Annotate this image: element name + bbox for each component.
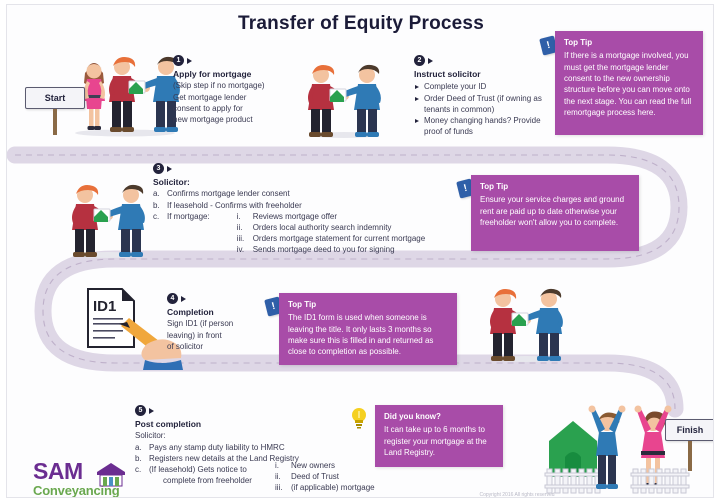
tip-box-4: Did you know? It can take up to 6 months… — [375, 405, 503, 467]
brand-logo[interactable]: SAM Conveyancing — [33, 460, 119, 497]
lightbulb-icon — [351, 407, 367, 429]
step-5-subtitle: Solicitor: — [135, 430, 375, 441]
step-2-bullet-2: Order Deed of Trust (if owning as tenant… — [414, 93, 549, 115]
step-5-badge: 5 — [135, 405, 375, 416]
step-2-number: 2 — [414, 55, 425, 66]
tip-3-heading: Top Tip — [288, 300, 448, 310]
step-3-roman-text-iv: Sends mortgage deed to you for signing — [253, 244, 395, 255]
arrow-icon — [167, 166, 172, 172]
step-3-text-b: If leasehold - Confirms with freeholder — [167, 200, 302, 211]
step-1-line-4: new mortgage product — [173, 114, 283, 125]
tip-box-2: Top Tip Ensure your service charges and … — [471, 175, 639, 251]
step-4-title: Completion — [167, 307, 267, 318]
step-2: 2 Instruct solicitor Complete your ID Or… — [414, 55, 549, 137]
step-5-roman-label-ii: ii. — [275, 471, 285, 482]
step-4-badge: 4 — [167, 293, 267, 304]
tip-2-heading: Top Tip — [480, 182, 630, 192]
tip-box-1: Top Tip If there is a mortgage involved,… — [555, 31, 703, 135]
step-3-label-c: c. — [153, 211, 162, 255]
step-5-roman-text-i: New owners — [291, 460, 335, 471]
infographic-frame: Transfer of Equity Process — [6, 4, 714, 498]
step-3-roman-i: i. Reviews mortgage offer — [237, 211, 426, 222]
step-3-roman-ii: ii. Orders local authority search indemn… — [237, 222, 426, 233]
step-5-roman-text-iii: (if applicable) mortgage — [291, 482, 375, 493]
step-2-bullets: Complete your ID Order Deed of Trust (if… — [414, 81, 549, 136]
tip-3-body: The ID1 form is used when someone is lea… — [288, 312, 448, 357]
step-3: 3 Solicitor: a. Confirms mortgage lender… — [153, 163, 465, 255]
step-3-roman-iii: iii. Orders mortgage statement for curre… — [237, 233, 426, 244]
step-5-item-a: a. Pays any stamp duty liability to HMRC — [135, 442, 375, 453]
step-3-roman-label-ii: ii. — [237, 222, 247, 233]
step-3-title: Solicitor: — [153, 177, 465, 188]
step-3-item-a: a. Confirms mortgage lender consent — [153, 188, 465, 199]
step-3-text-a: Confirms mortgage lender consent — [167, 188, 290, 199]
infographic-page: Transfer of Equity Process — [0, 0, 720, 504]
step-5-label-a: a. — [135, 442, 144, 453]
arrow-icon — [181, 296, 186, 302]
step-2-badge: 2 — [414, 55, 549, 66]
step-3-roman-label-iv: iv. — [237, 244, 247, 255]
house-icon — [95, 461, 127, 487]
step-3-roman-text-iii: Orders mortgage statement for current mo… — [253, 233, 426, 244]
step-5-label-c-cont — [135, 475, 144, 486]
step-3-roman-list: i. Reviews mortgage offer ii. Orders loc… — [237, 211, 426, 255]
step-4-line-1: Sign ID1 (if person — [167, 318, 267, 329]
step-5-roman-ii: ii. Deed of Trust — [275, 471, 415, 482]
step-4-line-3: of solicitor — [167, 341, 267, 352]
tip-4-heading: Did you know? — [384, 412, 494, 422]
arrow-icon — [428, 58, 433, 64]
step-3-badge: 3 — [153, 163, 465, 174]
arrow-icon — [187, 58, 192, 64]
step-1-line-2: Get mortgage lender — [173, 92, 283, 103]
step-5-label-c: c. — [135, 464, 144, 475]
tip-1-body: If there is a mortgage involved, you mus… — [564, 50, 694, 118]
id1-label: ID1 — [93, 298, 116, 315]
tip-2-body: Ensure your service charges and ground r… — [480, 194, 630, 228]
step-4: 4 Completion Sign ID1 (if person leaving… — [167, 293, 267, 352]
step-3-label-a: a. — [153, 188, 162, 199]
step-1-badge: 1 — [173, 55, 283, 66]
step-1-line-1: (Skip step if no mortgage) — [173, 80, 283, 91]
step-2-bullet-3: Money changing hands? Provide proof of f… — [414, 115, 549, 137]
step-3-text-c: If mortgage: — [167, 211, 210, 255]
start-sign-label: Start — [25, 87, 85, 109]
step-3-roman-label-iii: iii. — [237, 233, 247, 244]
step-1-title: Apply for mortgage — [173, 69, 283, 80]
step-3-item-c: c. If mortgage: i. Reviews mortgage offe… — [153, 211, 465, 255]
step-3-item-b: b. If leasehold - Confirms with freehold… — [153, 200, 465, 211]
start-sign: Start — [25, 87, 85, 135]
step-5-roman-label-i: i. — [275, 460, 285, 471]
tip-4-body: It can take up to 6 months to register y… — [384, 424, 494, 458]
copyright-text: Copyright 2016 All rights reserved — [427, 492, 607, 498]
step-5-roman-label-iii: iii. — [275, 482, 285, 493]
step-5-text-c: (If leasehold) Gets notice to — [149, 464, 247, 475]
step-5-label-b: b. — [135, 453, 144, 464]
illustration-people-group-4 — [485, 277, 567, 363]
step-1: 1 Apply for mortgage (Skip step if no mo… — [173, 55, 283, 125]
tip-1-heading: Top Tip — [564, 38, 694, 48]
step-3-roman-iv: iv. Sends mortgage deed to you for signi… — [237, 244, 426, 255]
step-2-bullet-1: Complete your ID — [414, 81, 549, 92]
step-3-roman-label-i: i. — [237, 211, 247, 222]
step-5-roman-iii: iii. (if applicable) mortgage — [275, 482, 415, 493]
arrow-icon — [149, 408, 154, 414]
illustration-people-group-2 — [303, 53, 385, 139]
step-1-number: 1 — [173, 55, 184, 66]
step-5-text-a: Pays any stamp duty liability to HMRC — [149, 442, 285, 453]
illustration-people-group-3 — [67, 173, 149, 259]
tip-box-3: Top Tip The ID1 form is used when someon… — [279, 293, 457, 365]
finish-sign-label: Finish — [665, 419, 714, 441]
step-2-title: Instruct solicitor — [414, 69, 549, 80]
step-1-line-3: consent to apply for — [173, 103, 283, 114]
step-3-label-b: b. — [153, 200, 162, 211]
step-5-roman-text-ii: Deed of Trust — [291, 471, 339, 482]
step-3-roman-text-i: Reviews mortgage offer — [253, 211, 337, 222]
step-5-title: Post completion — [135, 419, 375, 430]
step-5-number: 5 — [135, 405, 146, 416]
step-5-text-c-cont: complete from freeholder — [149, 475, 252, 486]
step-4-line-2: leaving) in front — [167, 330, 267, 341]
finish-sign: Finish — [665, 419, 714, 471]
step-4-number: 4 — [167, 293, 178, 304]
step-3-roman-text-ii: Orders local authority search indemnity — [253, 222, 392, 233]
step-3-number: 3 — [153, 163, 164, 174]
